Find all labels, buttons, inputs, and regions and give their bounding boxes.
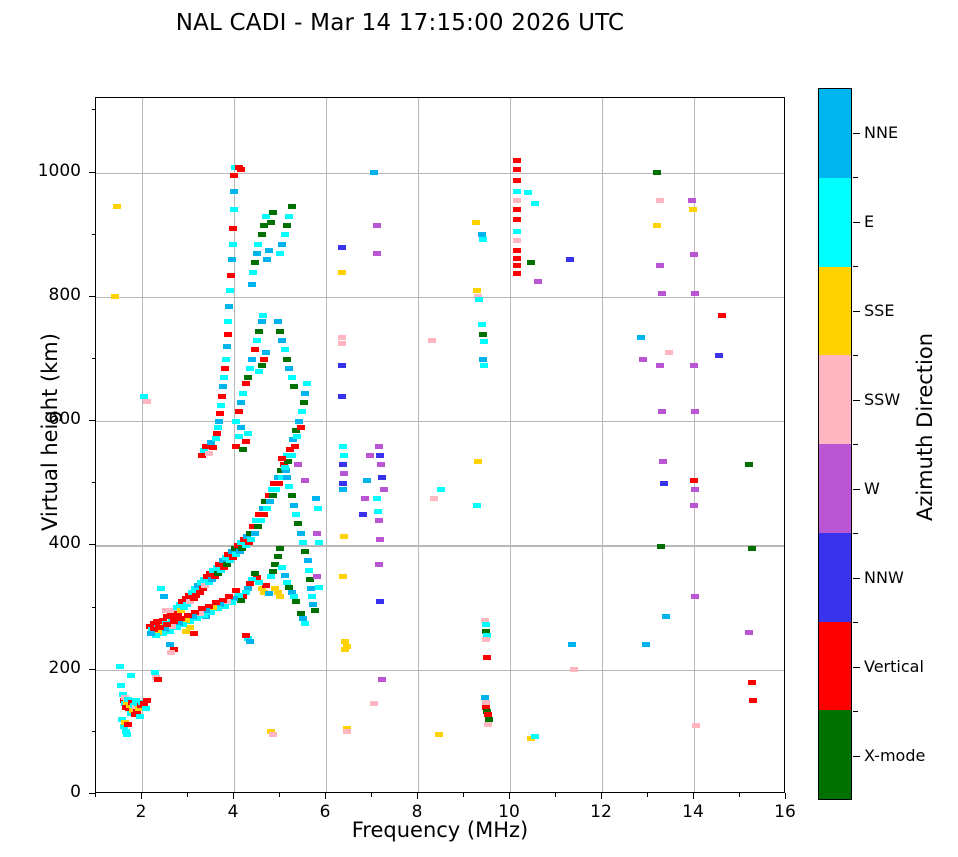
scatter-point <box>290 503 298 508</box>
scatter-point <box>246 639 254 644</box>
scatter-point <box>479 237 487 242</box>
scatter-point <box>278 565 286 570</box>
x-axis-minor-tick <box>95 793 96 797</box>
scatter-point <box>278 242 286 247</box>
scatter-point <box>692 723 700 728</box>
scatter-point <box>219 384 227 389</box>
colorbar-segment-e <box>819 178 851 267</box>
scatter-point <box>278 456 286 461</box>
y-axis-minor-tick <box>92 234 96 235</box>
colorbar-segment-nnw <box>819 533 851 622</box>
x-axis-tick <box>785 793 786 799</box>
scatter-point <box>665 350 673 355</box>
scatter-point <box>111 294 119 299</box>
scatter-point <box>239 391 247 396</box>
scatter-point <box>473 288 481 293</box>
scatter-point <box>265 248 273 253</box>
scatter-point <box>274 554 282 559</box>
scatter-point <box>313 531 321 536</box>
colorbar-tick <box>853 400 860 401</box>
scatter-point <box>482 622 490 627</box>
scatter-point <box>269 210 277 215</box>
scatter-point <box>657 544 665 549</box>
colorbar-title: Azimuth Direction <box>913 277 937 577</box>
x-axis-tick <box>693 793 694 799</box>
x-axis-minor-tick <box>371 793 372 797</box>
y-axis-minor-tick <box>92 607 96 608</box>
scatter-point <box>373 223 381 228</box>
scatter-point <box>639 357 647 362</box>
scatter-point <box>338 394 346 399</box>
colorbar-tick <box>853 222 860 223</box>
scatter-point <box>690 478 698 483</box>
scatter-point <box>374 509 382 514</box>
colorbar-boundary-tick <box>853 622 858 623</box>
colorbar-label-e: E <box>864 212 874 231</box>
scatter-point <box>378 475 386 480</box>
scatter-point <box>309 602 317 607</box>
y-axis-tick <box>89 172 95 173</box>
y-axis-tick <box>89 669 95 670</box>
scatter-point <box>361 496 369 501</box>
scatter-point <box>340 471 348 476</box>
scatter-point <box>262 350 270 355</box>
scatter-point <box>232 419 240 424</box>
scatter-point <box>269 732 277 737</box>
scatter-point <box>313 574 321 579</box>
scatter-point <box>295 419 303 424</box>
scatter-point <box>276 594 284 599</box>
scatter-point <box>244 431 252 436</box>
y-axis-minor-tick <box>92 358 96 359</box>
scatter-point <box>142 706 150 711</box>
scatter-point <box>117 683 125 688</box>
scatter-point <box>656 198 664 203</box>
scatter-point <box>232 588 240 593</box>
scatter-point <box>308 594 316 599</box>
colorbar-label-sse: SSE <box>864 301 894 320</box>
scatter-point <box>258 319 266 324</box>
scatter-point <box>370 701 378 706</box>
scatter-point <box>375 562 383 567</box>
scatter-point <box>690 252 698 257</box>
scatter-point <box>745 462 753 467</box>
scatter-point <box>136 714 144 719</box>
scatter-point <box>479 357 487 362</box>
scatter-point <box>258 363 266 368</box>
scatter-point <box>229 226 237 231</box>
scatter-point <box>222 357 230 362</box>
scatter-point <box>297 425 305 430</box>
scatter-point <box>285 366 293 371</box>
scatter-point <box>246 366 254 371</box>
scatter-point <box>254 524 262 529</box>
colorbar-tick <box>853 489 860 490</box>
x-axis-minor-tick <box>555 793 556 797</box>
scatter-point <box>292 599 300 604</box>
y-axis-label: Virtual height (km) <box>38 282 62 582</box>
scatter-point <box>691 594 699 599</box>
scatter-point <box>116 664 124 669</box>
scatter-point <box>281 573 289 578</box>
scatter-point <box>375 518 383 523</box>
scatter-point <box>276 546 284 551</box>
scatter-point <box>267 220 275 225</box>
scatter-point <box>662 614 670 619</box>
scatter-point <box>255 369 263 374</box>
scatter-point <box>718 313 726 318</box>
colorbar-segment-nne <box>819 89 851 178</box>
scatter-point <box>513 263 521 268</box>
scatter-point <box>473 503 481 508</box>
scatter-point <box>341 647 349 652</box>
scatter-point <box>235 409 243 414</box>
scatter-point <box>244 375 252 380</box>
scatter-point <box>214 425 222 430</box>
scatter-point <box>127 673 135 678</box>
scatter-point <box>260 357 268 362</box>
scatter-point <box>248 282 256 287</box>
y-axis-minor-tick <box>92 109 96 110</box>
scatter-point <box>269 493 277 498</box>
scatter-point <box>340 534 348 539</box>
scatter-point <box>338 341 346 346</box>
y-axis-minor-tick <box>92 731 96 732</box>
scatter-point <box>224 319 232 324</box>
scatter-point <box>255 329 263 334</box>
scatter-point <box>237 425 245 430</box>
scatter-point <box>748 546 756 551</box>
scatter-point <box>513 248 521 253</box>
scatter-point <box>215 419 223 424</box>
x-axis-tick <box>509 793 510 799</box>
scatter-point <box>260 512 268 517</box>
scatter-point <box>656 263 664 268</box>
scatter-point <box>340 453 348 458</box>
colorbar-tick <box>853 578 860 579</box>
colorbar <box>818 88 852 800</box>
colorbar-boundary-tick <box>853 177 858 178</box>
scatter-point <box>380 487 388 492</box>
scatter-point <box>271 586 279 591</box>
scatter-point <box>475 297 483 302</box>
scatter-point <box>303 381 311 386</box>
scatter-point <box>251 531 259 536</box>
scatter-point <box>288 493 296 498</box>
scatter-point <box>224 332 232 337</box>
scatter-point <box>301 478 309 483</box>
scatter-point <box>534 279 542 284</box>
colorbar-boundary-tick <box>853 266 858 267</box>
x-axis-minor-tick <box>739 793 740 797</box>
scatter-point <box>435 732 443 737</box>
x-axis-tick <box>325 793 326 799</box>
scatter-point <box>656 363 664 368</box>
scatter-point <box>513 207 521 212</box>
scatter-point <box>338 245 346 250</box>
colorbar-tick <box>853 667 860 668</box>
scatter-point <box>251 260 259 265</box>
scatter-point <box>294 462 302 467</box>
colorbar-tick <box>853 756 860 757</box>
scatter-point <box>278 338 286 343</box>
scatter-point <box>209 445 217 450</box>
scatter-point <box>267 574 275 579</box>
scatter-point <box>251 571 259 576</box>
scatter-point <box>123 732 131 737</box>
scatter-point <box>301 549 309 554</box>
colorbar-label-x-mode: X-mode <box>864 746 925 765</box>
colorbar-tick <box>853 133 860 134</box>
x-axis-minor-tick <box>647 793 648 797</box>
scatter-point <box>513 178 521 183</box>
scatter-point <box>160 594 168 599</box>
scatter-point <box>472 220 480 225</box>
scatter-point <box>263 506 271 511</box>
scatter-point <box>230 173 238 178</box>
scatter-point <box>690 503 698 508</box>
scatter-point <box>213 431 221 436</box>
scatter-point <box>113 204 121 209</box>
scatter-point <box>653 170 661 175</box>
scatter-point <box>299 540 307 545</box>
scatter-point <box>637 335 645 340</box>
scatter-point <box>513 198 521 203</box>
x-axis-minor-tick <box>279 793 280 797</box>
scatter-point <box>377 462 385 467</box>
scatter-point <box>745 630 753 635</box>
colorbar-segment-w <box>819 444 851 533</box>
scatter-point <box>531 201 539 206</box>
scatter-point <box>216 411 224 416</box>
scatter-point <box>212 436 220 441</box>
scatter-point <box>167 650 175 655</box>
scatter-point <box>659 459 667 464</box>
scatter-point <box>312 496 320 501</box>
scatter-point <box>527 260 535 265</box>
scatter-point <box>248 357 256 362</box>
scatter-point <box>366 453 374 458</box>
scatter-point <box>263 257 271 262</box>
y-axis-tick-label: 200 <box>11 658 81 678</box>
x-axis-minor-tick <box>463 793 464 797</box>
scatter-point <box>363 478 371 483</box>
scatter-point <box>255 580 263 585</box>
scatter-point <box>311 608 319 613</box>
scatter-point <box>513 217 521 222</box>
scatter-point <box>266 499 274 504</box>
scatter-point <box>281 347 289 352</box>
scatter-point <box>154 677 162 682</box>
scatter-point <box>339 574 347 579</box>
scatter-point <box>249 270 257 275</box>
scatter-point <box>314 506 322 511</box>
scatter-point <box>315 585 323 590</box>
scatter-point <box>513 158 521 163</box>
colorbar-segment-sse <box>819 267 851 356</box>
scatter-point <box>642 642 650 647</box>
scatter-point <box>479 332 487 337</box>
scatter-point <box>225 304 233 309</box>
scatter-point <box>660 481 668 486</box>
scatter-point <box>338 270 346 275</box>
scatter-point <box>143 698 151 703</box>
scatter-point <box>343 729 351 734</box>
scatter-point <box>157 586 165 591</box>
scatter-point <box>339 481 347 486</box>
scatter-point <box>301 621 309 626</box>
x-axis-tick <box>233 793 234 799</box>
scatter-point <box>151 670 159 675</box>
scatter-point <box>568 642 576 647</box>
colorbar-segment-ssw <box>819 355 851 444</box>
colorbar-boundary-tick <box>853 711 858 712</box>
scatter-point <box>478 322 486 327</box>
scatter-point <box>291 444 299 449</box>
scatter-point <box>275 481 283 486</box>
scatter-point <box>293 434 301 439</box>
scatter-point <box>513 238 521 243</box>
scatter-point <box>480 363 488 368</box>
y-axis-tick <box>89 793 95 794</box>
scatter-point <box>339 462 347 467</box>
scatter-point <box>253 338 261 343</box>
x-axis-tick <box>601 793 602 799</box>
colorbar-boundary-tick <box>853 355 858 356</box>
scatter-point <box>290 384 298 389</box>
scatter-point <box>285 214 293 219</box>
scatter-point <box>251 347 259 352</box>
scatter-point <box>254 242 262 247</box>
scatter-point <box>715 353 723 358</box>
y-axis-minor-tick <box>92 482 96 483</box>
scatter-point <box>217 403 225 408</box>
scatter-point <box>147 631 155 636</box>
scatter-point <box>570 667 578 672</box>
scatter-point <box>378 677 386 682</box>
colorbar-segment-vertical <box>819 622 851 711</box>
scatter-point <box>373 496 381 501</box>
colorbar-label-nnw: NNW <box>864 568 904 587</box>
scatter-point <box>748 680 756 685</box>
scatter-point <box>292 512 300 517</box>
scatter-point <box>749 698 757 703</box>
colorbar-boundary-tick <box>853 533 858 534</box>
scatter-point <box>230 189 238 194</box>
scatter-point <box>281 465 289 470</box>
scatter-point <box>162 608 170 613</box>
scatter-point <box>513 189 521 194</box>
scatter-point <box>259 313 267 318</box>
scatter-point <box>373 251 381 256</box>
scatter-point <box>297 531 305 536</box>
colorbar-segment-x-mode <box>819 710 851 799</box>
scatter-point <box>474 459 482 464</box>
scatter-point <box>186 625 194 630</box>
scatter-point <box>242 381 250 386</box>
scatter-point <box>227 273 235 278</box>
colorbar-tick <box>853 311 860 312</box>
scatter-point <box>376 537 384 542</box>
scatter-point <box>691 409 699 414</box>
y-axis-tick <box>89 544 95 545</box>
scatter-point <box>274 319 282 324</box>
scatter-point <box>300 400 308 405</box>
scatter-point <box>220 375 228 380</box>
scatter-point <box>285 484 293 489</box>
scatter-point <box>305 568 313 573</box>
scatter-point <box>437 487 445 492</box>
y-axis-tick-label: 0 <box>11 782 81 802</box>
scatter-point <box>375 444 383 449</box>
colorbar-label-ssw: SSW <box>864 390 900 409</box>
x-axis-tick <box>141 793 142 799</box>
scatter-point <box>658 291 666 296</box>
scatter-point <box>301 391 309 396</box>
scatter-point <box>205 451 213 456</box>
scatter-point <box>283 223 291 228</box>
scatter-point <box>229 242 237 247</box>
scatter-point <box>143 399 151 404</box>
scatter-point <box>258 232 266 237</box>
scatter-point <box>272 487 280 492</box>
scatter-point <box>288 375 296 380</box>
scatter-point <box>288 453 296 458</box>
x-axis-minor-tick <box>187 793 188 797</box>
scatter-point <box>226 288 234 293</box>
scatter-point <box>482 637 490 642</box>
scatter-point <box>689 207 697 212</box>
scatter-point <box>228 257 236 262</box>
scatter-point <box>283 357 291 362</box>
scatter-point <box>242 439 250 444</box>
scatter-point <box>339 487 347 492</box>
scatter-point <box>513 229 521 234</box>
scatter-point <box>531 734 539 739</box>
scatter-point <box>242 633 250 638</box>
scatter-point <box>315 540 323 545</box>
scatter-point <box>513 271 521 276</box>
y-axis-tick <box>89 420 95 421</box>
scatter-point <box>230 207 238 212</box>
x-axis-label: Frequency (MHz) <box>95 818 785 842</box>
scatter-point <box>307 586 315 591</box>
scatter-point <box>566 257 574 262</box>
scatter-point <box>304 558 312 563</box>
scatter-point <box>276 329 284 334</box>
scatter-point <box>376 599 384 604</box>
scatter-point <box>513 256 521 261</box>
colorbar-label-w: W <box>864 479 880 498</box>
scatter-point <box>359 512 367 517</box>
scatter-point <box>237 400 245 405</box>
colorbar-label-nne: NNE <box>864 123 898 142</box>
scatter-point <box>262 583 270 588</box>
scatter-point <box>430 496 438 501</box>
scatter-point <box>428 338 436 343</box>
scatter-point <box>257 518 265 523</box>
scatter-point <box>691 291 699 296</box>
scatter-point <box>223 344 231 349</box>
scatter-point <box>688 198 696 203</box>
scatter-point <box>294 521 302 526</box>
x-axis-tick <box>417 793 418 799</box>
scatter-point <box>237 598 245 603</box>
scatter-point <box>237 167 245 172</box>
scatter-point <box>339 444 347 449</box>
colorbar-boundary-tick <box>853 444 858 445</box>
scatter-point <box>691 487 699 492</box>
